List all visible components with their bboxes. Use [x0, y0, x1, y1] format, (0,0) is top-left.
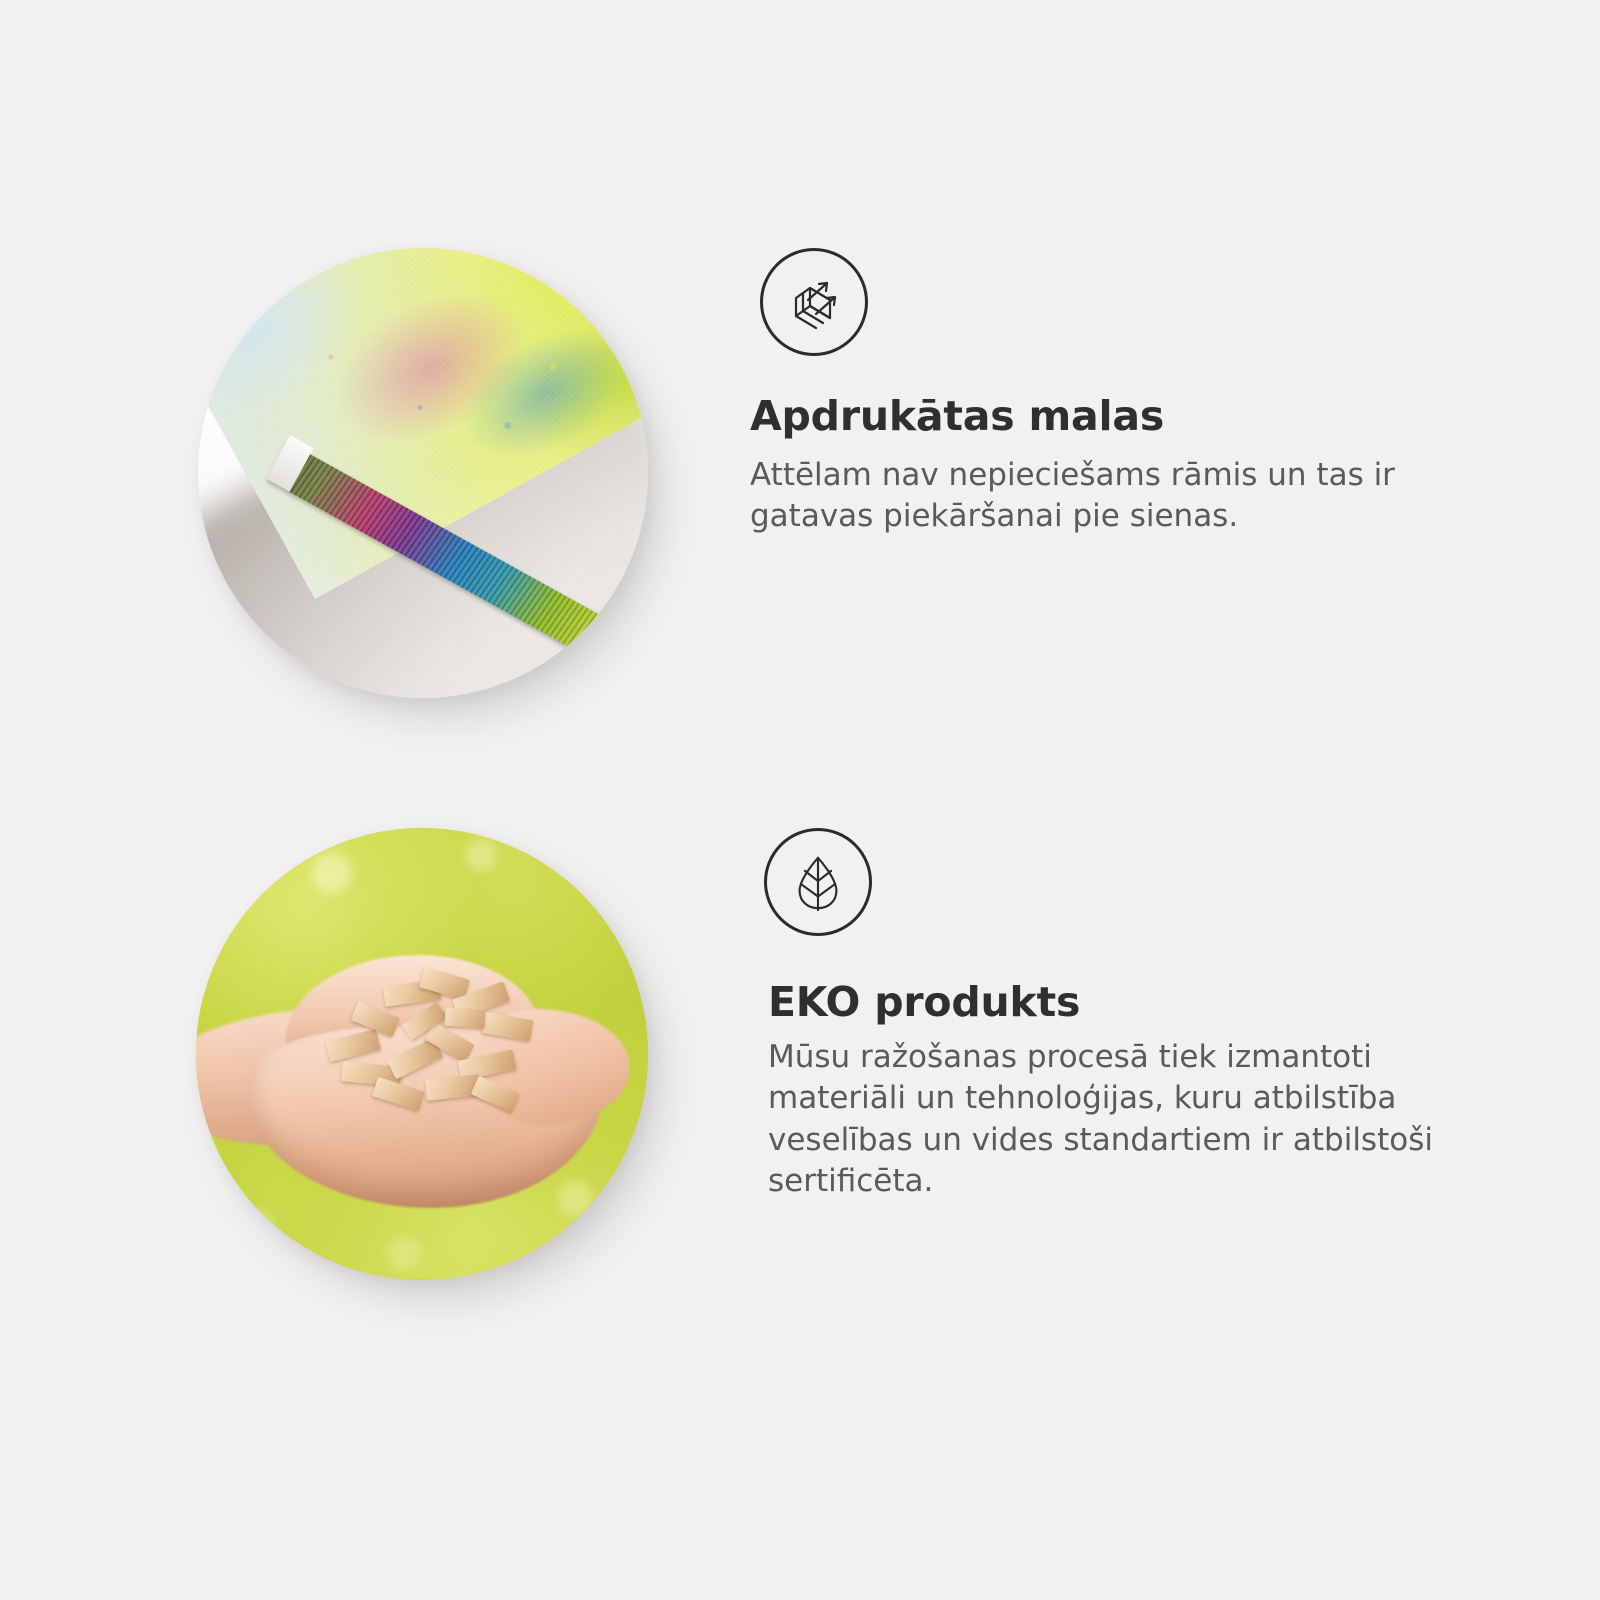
feature-block-printed-edges: Apdrukātas malas Attēlam nav nepieciešam… [0, 248, 1600, 698]
wood-chip-pile [318, 964, 553, 1127]
feature-description: Attēlam nav nepieciešams rāmis un tas ir… [750, 455, 1480, 537]
wrapped-canvas-edge-icon [760, 248, 868, 356]
feature-block-eco-product: EKO produkts Mūsu ražošanas procesā tiek… [0, 828, 1600, 1280]
feature-title: EKO produkts [768, 980, 1480, 1025]
hands-holding-wood-chips-photo [196, 828, 648, 1280]
leaf-icon [764, 828, 872, 936]
feature-title: Apdrukātas malas [750, 394, 1480, 439]
feature-description: Mūsu ražošanas procesā tiek izmantoti ma… [768, 1037, 1480, 1202]
product-feature-panel: Apdrukātas malas Attēlam nav nepieciešam… [0, 0, 1600, 1600]
canvas-corner-photo [198, 248, 648, 698]
feature-text-printed-edges: Apdrukātas malas Attēlam nav nepieciešam… [750, 248, 1480, 538]
feature-media-eco-product [0, 828, 648, 1280]
feature-media-printed-edges [0, 248, 648, 698]
feature-text-eco-product: EKO produkts Mūsu ražošanas procesā tiek… [750, 828, 1480, 1202]
